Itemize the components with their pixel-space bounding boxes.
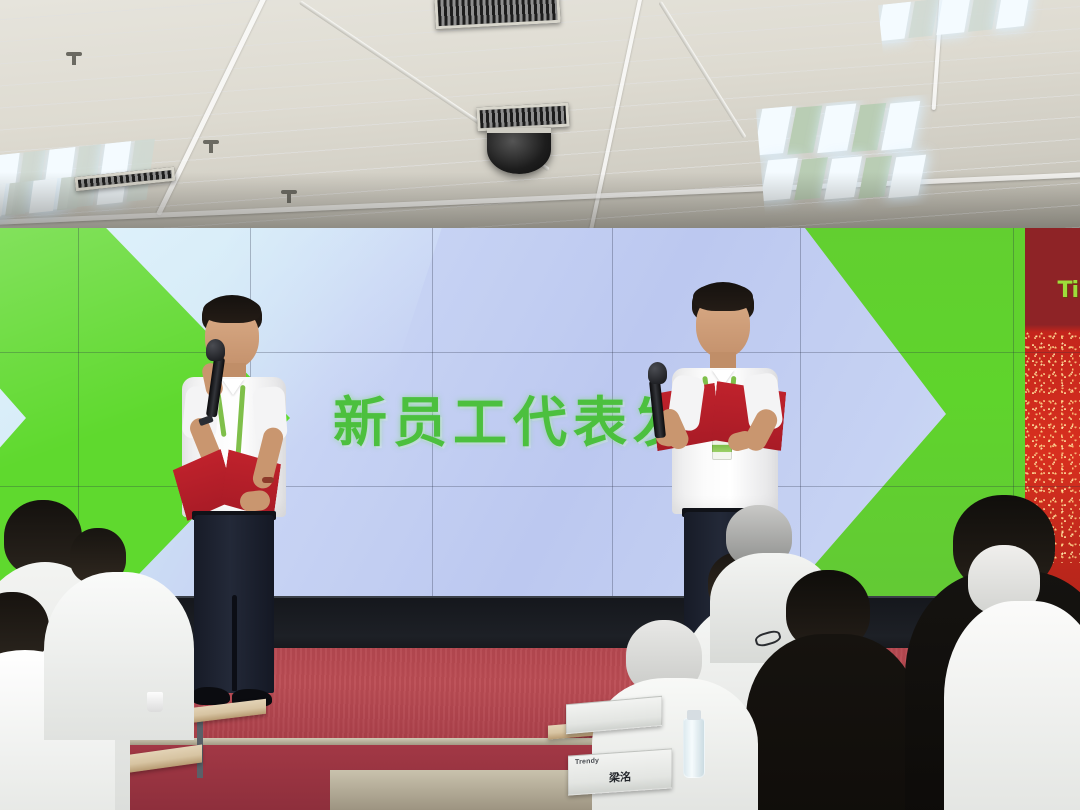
microphone-head [206,339,225,361]
sprinkler-head-icon [203,140,219,144]
audience-member [60,528,190,728]
microphone-head [648,362,667,384]
bracelet [262,477,274,483]
water-bottle [683,718,705,778]
ceiling [0,0,1080,232]
audience-member [960,545,1080,810]
hair-top [203,297,261,323]
name-card-name: 梁洺 [569,765,671,788]
audience-member [760,570,900,810]
torso [44,572,194,740]
sprinkler-head-icon [66,52,82,56]
trouser-leg-gap [232,595,237,691]
paper-cup [147,692,163,712]
name-card: Trendy 梁洺 [568,748,672,795]
torso [944,601,1080,810]
brand-text: Ti [1057,278,1078,303]
torso [746,634,920,810]
hair-top [693,283,753,311]
shoe-left [192,687,230,705]
name-card-brand: Trendy [575,757,599,766]
ceiling-shadow [0,172,1080,232]
photo-scene: Ti 新员工代表发言 [0,0,1080,810]
bottle-cap [687,710,701,720]
